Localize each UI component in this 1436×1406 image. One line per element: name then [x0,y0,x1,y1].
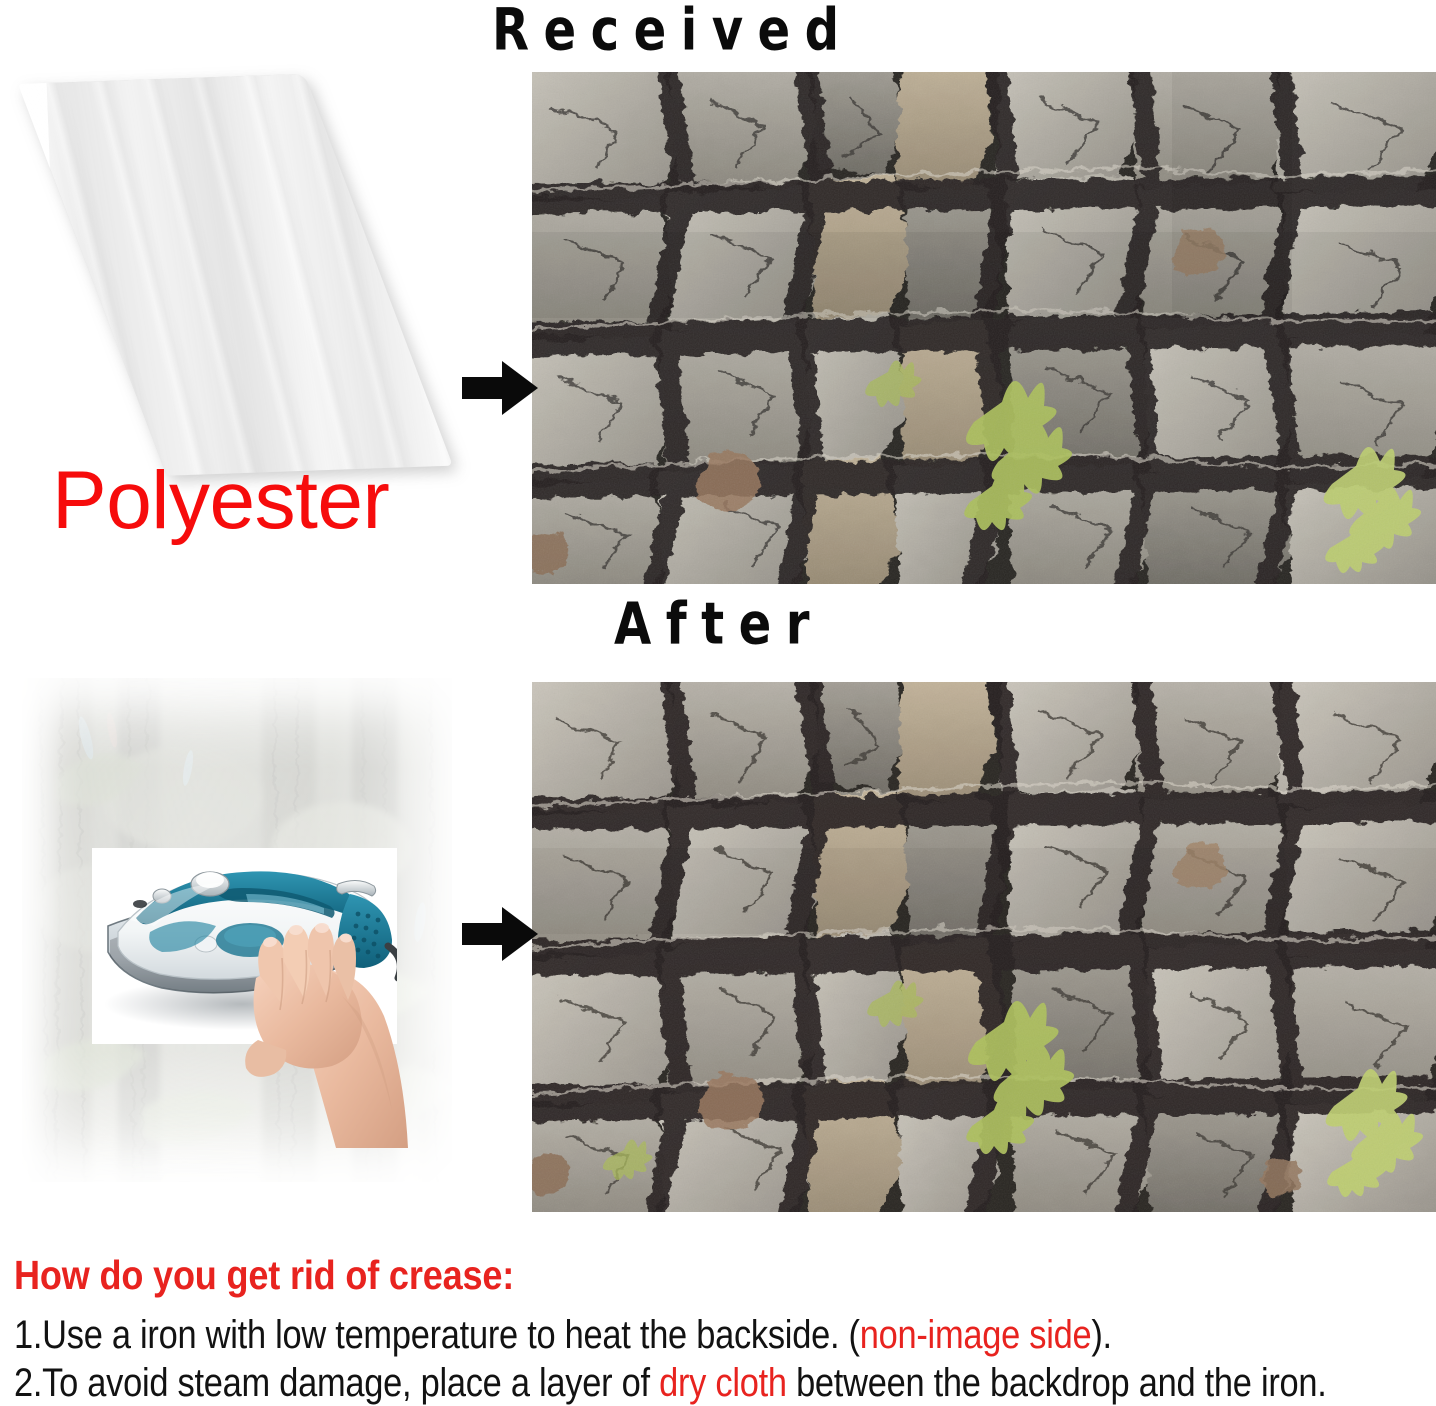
instructions-title: How do you get rid of crease: [14,1252,1264,1298]
rock-wall-texture [532,72,1436,584]
instruction-step-2: 2.To avoid steam damage, place a layer o… [14,1360,1235,1406]
right-arrow-icon [462,361,538,415]
step-1-number: 1. [14,1313,42,1357]
instruction-step-1: 1.Use a iron with low temperature to hea… [14,1312,1235,1358]
step-2-text-after: between the backdrop and the iron. [787,1361,1327,1405]
received-backdrop-photo [532,72,1436,584]
infographic-root: Received [0,0,1436,1401]
fabric-swatch-image [18,74,453,476]
received-heading: Received [492,1,854,61]
arrow-head [502,907,538,961]
instructions-block: How do you get rid of crease: 1.Use a ir… [14,1252,1434,1406]
step-2-number: 2. [14,1361,42,1405]
step-1-text-after: ). [1091,1313,1112,1357]
step-1-text-before: Use a iron with low temperature to heat … [42,1313,860,1357]
right-arrow-icon [462,907,538,961]
polyester-label: Polyester [52,459,389,543]
step-2-highlight: dry cloth [659,1361,787,1405]
fabric-fold-lines [18,74,453,476]
step-2-text-before: To avoid steam damage, place a layer of [42,1361,659,1405]
arrow-head [502,361,538,415]
iron-photo-panel [92,848,397,1044]
after-backdrop-photo [532,682,1436,1212]
hand-icon [232,900,414,1148]
after-heading: After [614,595,824,655]
step-1-highlight: non-image side [860,1313,1092,1357]
rock-wall-texture [532,682,1436,1212]
ironing-demo-image [0,676,452,1216]
